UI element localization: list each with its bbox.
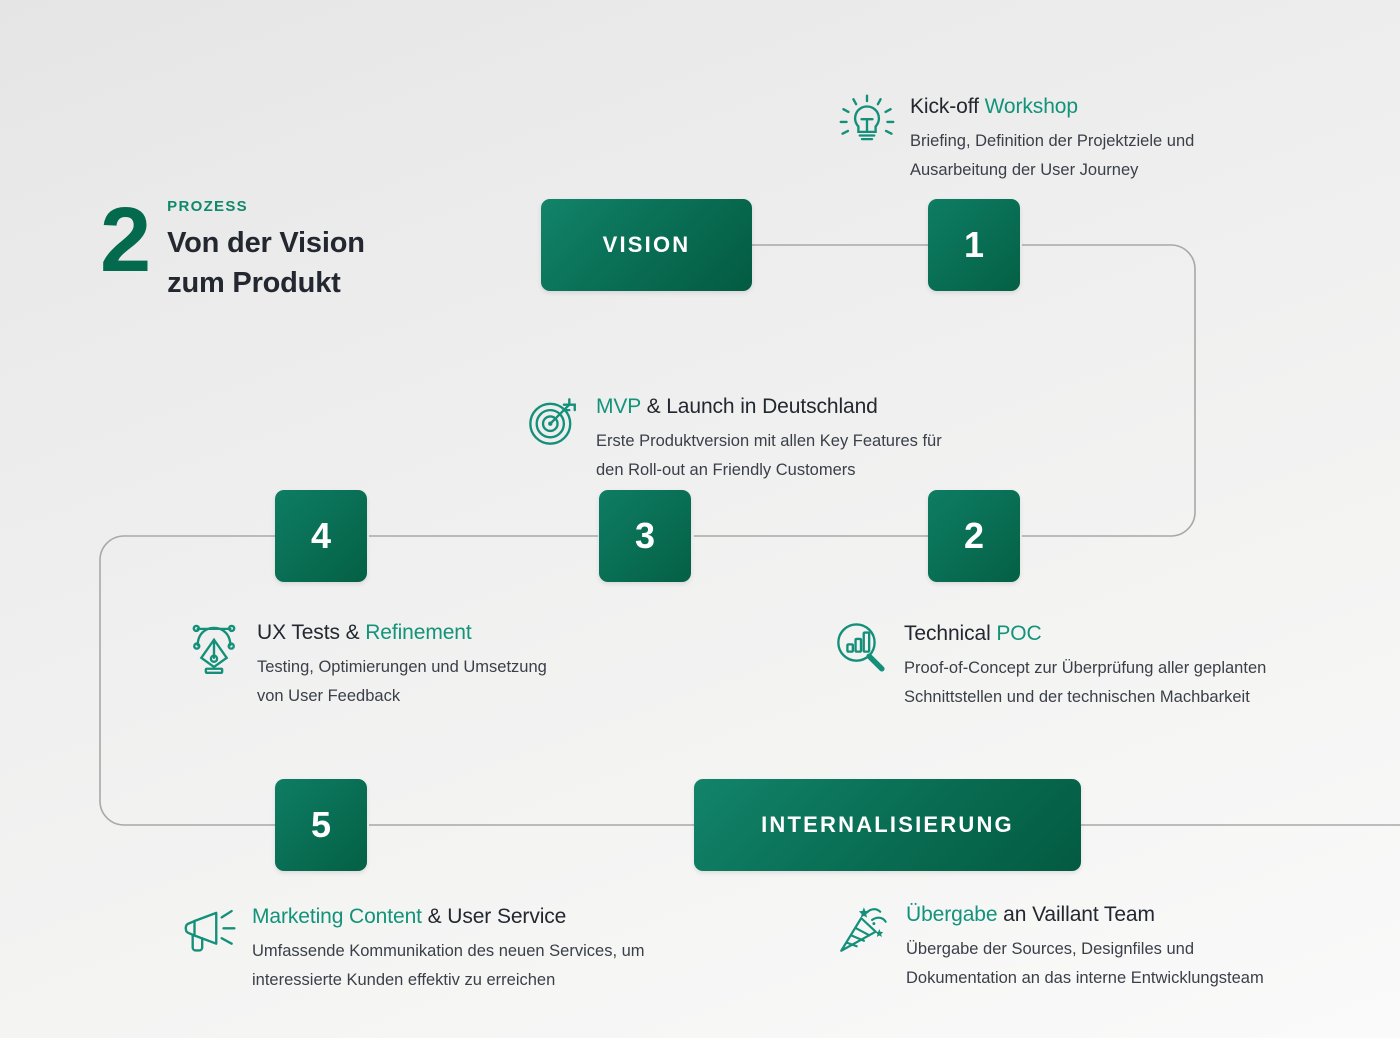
mvp-launch-description: Erste Produktversion mit allen Key Featu…: [596, 427, 942, 484]
connector-1-to-2: [1022, 245, 1195, 536]
kickoff-workshop-desc-line2: Ausarbeitung der User Journey: [910, 156, 1194, 184]
ux-tests-refinement-description: Testing, Optimierungen und Umsetzung von…: [257, 653, 547, 710]
technical-poc-desc-line1: Proof-of-Concept zur Überprüfung aller g…: [904, 654, 1266, 682]
step-node-4[interactable]: 4: [275, 490, 367, 582]
ux-tests-refinement: UX Tests & Refinement Testing, Optimieru…: [185, 618, 547, 710]
target-icon: [524, 392, 582, 450]
kickoff-workshop-description: Briefing, Definition der Projektziele un…: [910, 127, 1194, 184]
pen-nib-icon: [185, 618, 243, 676]
technical-poc-title-plain: Technical: [904, 622, 996, 645]
ux-tests-refinement-title: UX Tests & Refinement: [257, 620, 547, 646]
uebergabe-vaillant-desc-line2: Dokumentation an das interne Entwicklung…: [906, 964, 1264, 992]
kickoff-workshop: Kick-off Workshop Briefing, Definition d…: [838, 92, 1194, 184]
step-node-4-label: 4: [311, 515, 331, 557]
step-node-3-label: 3: [635, 515, 655, 557]
party-popper-icon: [834, 900, 892, 958]
process-eyebrow: PROZESS: [167, 198, 365, 215]
uebergabe-vaillant-desc-line1: Übergabe der Sources, Designfiles und: [906, 935, 1264, 963]
step-node-5[interactable]: 5: [275, 779, 367, 871]
technical-poc-description: Proof-of-Concept zur Überprüfung aller g…: [904, 654, 1266, 711]
vision-stage[interactable]: VISION: [541, 199, 752, 291]
marketing-content-title: Marketing Content & User Service: [252, 904, 645, 930]
uebergabe-vaillant: Übergabe an Vaillant Team Übergabe der S…: [834, 900, 1264, 992]
uebergabe-vaillant-title-accent: Übergabe: [906, 903, 997, 926]
mvp-launch-desc-line2: den Roll-out an Friendly Customers: [596, 456, 942, 484]
step-node-1[interactable]: 1: [928, 199, 1020, 291]
marketing-content: Marketing Content & User Service Umfasse…: [180, 902, 645, 994]
kickoff-workshop-title: Kick-off Workshop: [910, 94, 1194, 120]
marketing-content-title-accent: Marketing Content: [252, 905, 422, 928]
technical-poc: Technical POC Proof-of-Concept zur Überp…: [832, 619, 1266, 711]
process-headline: 2 PROZESS Von der Vision zum Produkt: [100, 192, 365, 303]
mvp-launch-desc-line1: Erste Produktversion mit allen Key Featu…: [596, 427, 942, 455]
step-node-1-label: 1: [964, 224, 984, 266]
marketing-content-description: Umfassende Kommunikation des neuen Servi…: [252, 937, 645, 994]
ux-tests-refinement-title-accent: Refinement: [365, 621, 471, 644]
kickoff-workshop-desc-line1: Briefing, Definition der Projektziele un…: [910, 127, 1194, 155]
technical-poc-title-accent: POC: [996, 622, 1041, 645]
ux-tests-refinement-desc-line2: von User Feedback: [257, 682, 547, 710]
lightbulb-icon: [838, 92, 896, 150]
kickoff-workshop-title-accent: Workshop: [985, 95, 1078, 118]
mvp-launch: MVP & Launch in Deutschland Erste Produk…: [524, 392, 942, 484]
magnifier-chart-icon: [832, 619, 890, 677]
step-node-2-label: 2: [964, 515, 984, 557]
uebergabe-vaillant-title-plain: an Vaillant Team: [997, 903, 1154, 926]
page-title-line2: zum Produkt: [167, 263, 365, 303]
vision-stage-label: VISION: [603, 232, 691, 258]
uebergabe-vaillant-description: Übergabe der Sources, Designfiles und Do…: [906, 935, 1264, 992]
technical-poc-desc-line2: Schnittstellen und der technischen Machb…: [904, 683, 1266, 711]
megaphone-icon: [180, 902, 238, 960]
technical-poc-title: Technical POC: [904, 621, 1266, 647]
marketing-content-desc-line1: Umfassende Kommunikation des neuen Servi…: [252, 937, 645, 965]
step-node-3[interactable]: 3: [599, 490, 691, 582]
page-title-line1: Von der Vision: [167, 223, 365, 263]
marketing-content-title-plain: & User Service: [422, 905, 566, 928]
mvp-launch-title-plain: & Launch in Deutschland: [641, 395, 878, 418]
process-number: 2: [100, 198, 149, 283]
internalisierung-stage-label: INTERNALISIERUNG: [761, 812, 1014, 838]
mvp-launch-title: MVP & Launch in Deutschland: [596, 394, 942, 420]
step-node-2[interactable]: 2: [928, 490, 1020, 582]
ux-tests-refinement-desc-line1: Testing, Optimierungen und Umsetzung: [257, 653, 547, 681]
kickoff-workshop-title-plain: Kick-off: [910, 95, 985, 118]
internalisierung-stage[interactable]: INTERNALISIERUNG: [694, 779, 1081, 871]
step-node-5-label: 5: [311, 804, 331, 846]
uebergabe-vaillant-title: Übergabe an Vaillant Team: [906, 902, 1264, 928]
page-title: Von der Vision zum Produkt: [167, 223, 365, 303]
ux-tests-refinement-title-plain: UX Tests &: [257, 621, 365, 644]
mvp-launch-title-accent: MVP: [596, 395, 641, 418]
marketing-content-desc-line2: interessierte Kunden effektiv zu erreich…: [252, 966, 645, 994]
